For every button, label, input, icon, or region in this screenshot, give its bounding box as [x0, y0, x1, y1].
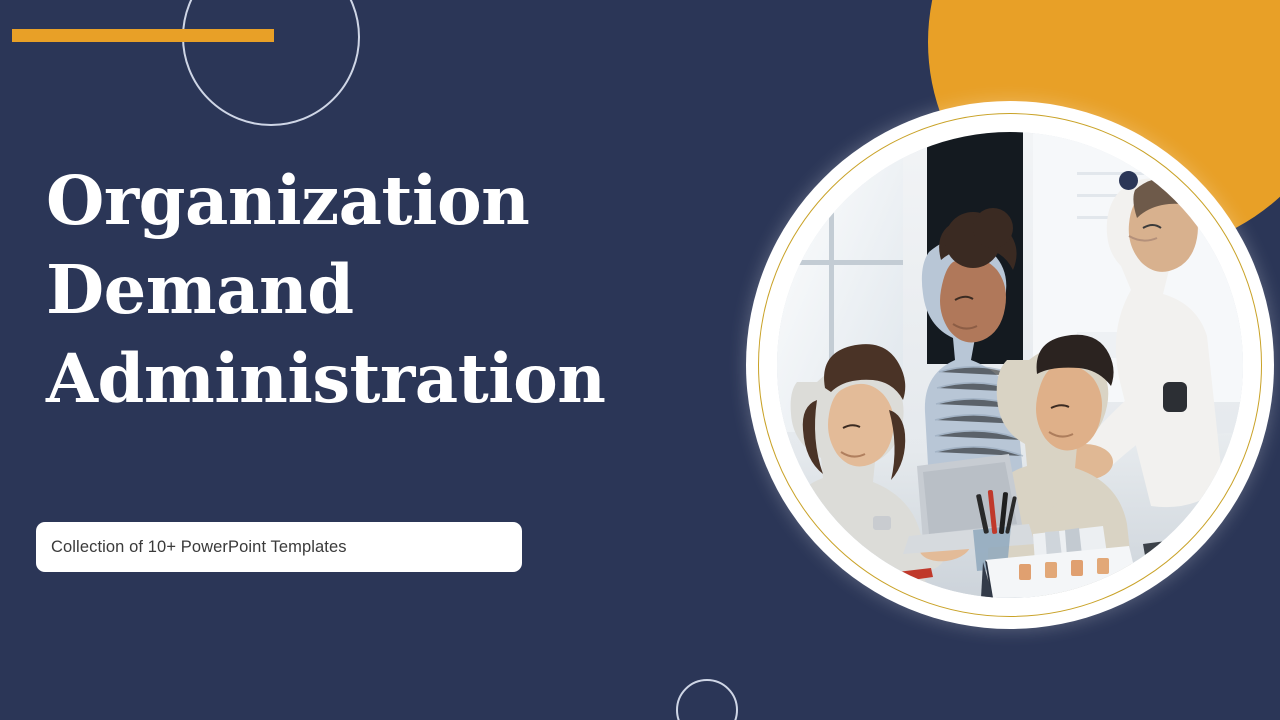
- title-slide: Organization Demand Administration Colle…: [0, 0, 1280, 720]
- page-title-line-3: Administration: [46, 334, 706, 423]
- bottom-outline-circle-decoration: [676, 679, 738, 720]
- team-meeting-photo: [777, 132, 1243, 598]
- navy-accent-dot: [1119, 171, 1138, 190]
- page-title-line-2: Demand: [46, 245, 706, 334]
- page-title-line-1: Organization: [46, 156, 706, 245]
- subtitle-text: Collection of 10+ PowerPoint Templates: [36, 538, 347, 557]
- accent-bar: [12, 29, 274, 42]
- page-title: Organization Demand Administration: [46, 156, 706, 423]
- photo-medallion: [746, 101, 1274, 629]
- top-outline-circle-decoration: [182, 0, 360, 126]
- subtitle-chip: Collection of 10+ PowerPoint Templates: [36, 522, 522, 572]
